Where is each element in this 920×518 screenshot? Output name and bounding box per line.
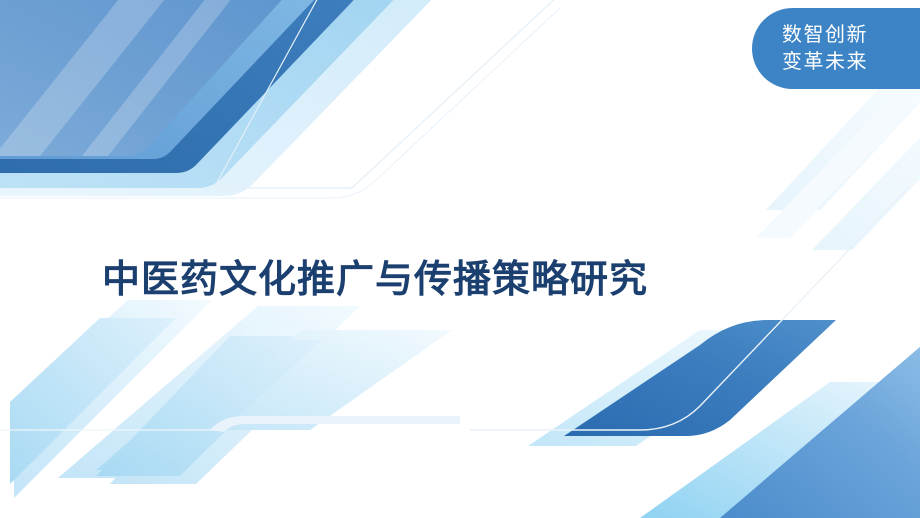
corner-badge-line-1: 数智创新 (782, 22, 868, 49)
title-container: 中医药文化推广与传播策略研究 (0, 232, 750, 329)
slide-canvas: 数智创新 变革未来 中医药文化推广与传播策略研究 (0, 0, 920, 518)
corner-badge: 数智创新 变革未来 (752, 8, 920, 89)
page-title: 中医药文化推广与传播策略研究 (102, 257, 648, 303)
corner-badge-line-2: 变革未来 (782, 49, 868, 76)
